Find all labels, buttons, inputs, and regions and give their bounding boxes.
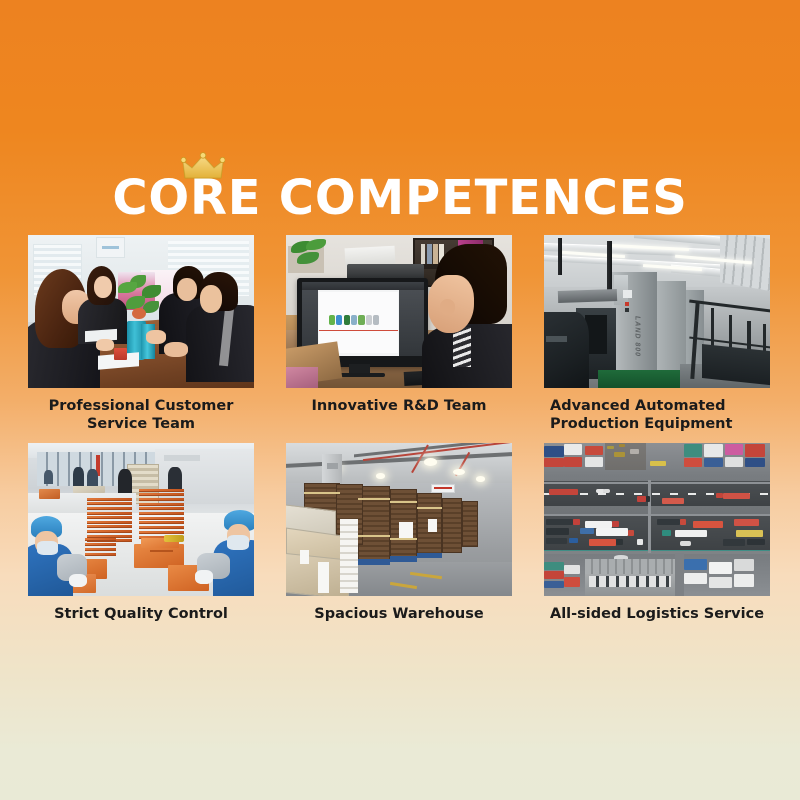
caption-line-1: Spacious Warehouse: [286, 605, 512, 623]
page-title: CORE COMPETENCES: [0, 152, 800, 222]
banner-root: CORE COMPETENCES: [0, 0, 800, 800]
photo-logistics-container-yard[interactable]: [544, 443, 770, 596]
photo-quality-control-inspection[interactable]: [28, 443, 254, 596]
crown-icon: [181, 152, 225, 182]
caption-line-1: Strict Quality Control: [28, 605, 254, 623]
competence-caption-6: All-sided Logistics Service: [544, 605, 770, 623]
competence-grid: Professional Customer Service Team: [28, 235, 773, 623]
photo-automated-printing-press[interactable]: LAND 800: [544, 235, 770, 388]
caption-line-1: Advanced Automated: [550, 397, 770, 415]
competence-caption-4: Strict Quality Control: [28, 605, 254, 623]
competence-card-1[interactable]: Professional Customer Service Team: [28, 235, 254, 434]
caption-line-1: Professional Customer: [28, 397, 254, 415]
competence-caption-5: Spacious Warehouse: [286, 605, 512, 623]
competence-card-2[interactable]: Innovative R&D Team: [286, 235, 512, 434]
caption-line-1: All-sided Logistics Service: [544, 605, 770, 623]
photo-customer-service-meeting[interactable]: [28, 235, 254, 388]
caption-line-1: Innovative R&D Team: [286, 397, 512, 415]
photo-rnd-designer-at-computer[interactable]: [286, 235, 512, 388]
competence-caption-2: Innovative R&D Team: [286, 397, 512, 415]
photo-spacious-warehouse[interactable]: [286, 443, 512, 596]
competence-card-5[interactable]: Spacious Warehouse: [286, 443, 512, 623]
competence-card-3[interactable]: LAND 800: [544, 235, 770, 434]
competence-row-2: Strict Quality Control: [28, 443, 773, 623]
competence-row-1: Professional Customer Service Team: [28, 235, 773, 434]
caption-line-2: Service Team: [28, 415, 254, 433]
caption-line-2: Production Equipment: [550, 415, 770, 433]
title-block: CORE COMPETENCES: [0, 152, 800, 222]
competence-caption-1: Professional Customer Service Team: [28, 397, 254, 434]
competence-card-4[interactable]: Strict Quality Control: [28, 443, 254, 623]
competence-card-6[interactable]: All-sided Logistics Service: [544, 443, 770, 623]
competence-caption-3: Advanced Automated Production Equipment: [544, 397, 770, 434]
